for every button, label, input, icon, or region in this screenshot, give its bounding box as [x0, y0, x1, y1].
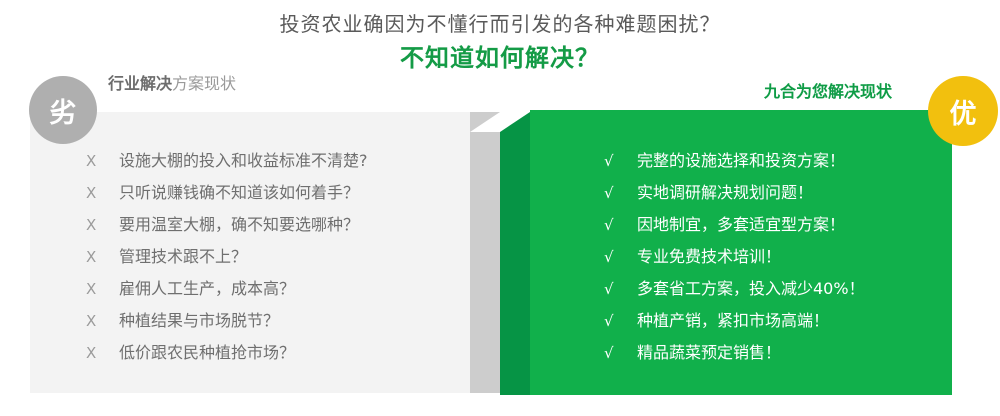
list-item: √ 因地制宜，多套适宜型方案！ [604, 211, 865, 243]
right-section-title: 九合为您解决现状 [764, 78, 892, 102]
check-icon: √ [604, 344, 637, 362]
left-section-title-strong: 行业解决 [108, 74, 172, 93]
cross-icon: X [86, 184, 119, 202]
cross-icon: X [86, 280, 119, 298]
right-panel-fold-bevel [500, 112, 530, 132]
list-item: √ 完整的设施选择和投资方案！ [604, 147, 865, 179]
check-icon: √ [604, 280, 637, 298]
list-item: √ 种植产销，紧扣市场高端！ [604, 307, 865, 339]
list-item-label: 多套省工方案，投入减少40%！ [637, 275, 865, 299]
left-panel-fold-bevel [470, 112, 500, 132]
cross-icon: X [86, 312, 119, 330]
right-panel-fold-body [500, 132, 530, 395]
headline-emphasis: 不知道如何解决？ [0, 38, 1000, 73]
list-item-label: 设施大棚的投入和收益标准不清楚? [119, 147, 368, 171]
list-item: √ 专业免费技术培训！ [604, 243, 865, 275]
check-icon: √ [604, 152, 637, 170]
comparison-infographic: 投资农业确因为不懂行而引发的各种难题困扰？ 不知道如何解决？ 劣 优 行业解决方… [0, 0, 1000, 416]
solution-list: √ 完整的设施选择和投资方案！ √ 实地调研解决规划问题！ √ 因地制宜，多套适… [604, 147, 865, 371]
list-item-label: 实地调研解决规划问题！ [637, 179, 813, 203]
left-section-title-soft: 方案现状 [172, 74, 236, 93]
list-item-label: 种植产销，紧扣市场高端！ [637, 307, 829, 331]
list-item: √ 实地调研解决规划问题！ [604, 179, 865, 211]
list-item: √ 精品蔬菜预定销售！ [604, 339, 865, 371]
list-item-label: 因地制宜，多套适宜型方案！ [637, 211, 845, 235]
list-item-label: 只听说赚钱确不知道该如何着手？ [119, 179, 359, 203]
list-item: X 种植结果与市场脱节？ [86, 307, 368, 339]
list-item-label: 专业免费技术培训！ [637, 243, 781, 267]
list-item: X 管理技术跟不上？ [86, 243, 368, 275]
list-item: X 设施大棚的投入和收益标准不清楚? [86, 147, 368, 179]
list-item-label: 低价跟农民种植抢市场？ [119, 339, 295, 363]
list-item-label: 完整的设施选择和投资方案！ [637, 147, 845, 171]
headline-question: 投资农业确因为不懂行而引发的各种难题困扰？ [0, 8, 1000, 37]
left-panel-fold-body [470, 132, 500, 393]
left-section-title: 行业解决方案现状 [108, 70, 236, 94]
list-item-label: 要用温室大棚，确不知要选哪种？ [119, 211, 359, 235]
check-icon: √ [604, 248, 637, 266]
list-item-label: 精品蔬菜预定销售！ [637, 339, 781, 363]
check-icon: √ [604, 184, 637, 202]
list-item-label: 管理技术跟不上？ [119, 243, 247, 267]
badge-superior: 优 [928, 76, 998, 146]
check-icon: √ [604, 312, 637, 330]
cross-icon: X [86, 248, 119, 266]
list-item: X 要用温室大棚，确不知要选哪种？ [86, 211, 368, 243]
list-item-label: 种植结果与市场脱节？ [119, 307, 279, 331]
list-item: √ 多套省工方案，投入减少40%！ [604, 275, 865, 307]
list-item: X 只听说赚钱确不知道该如何着手？ [86, 179, 368, 211]
check-icon: √ [604, 216, 637, 234]
cross-icon: X [86, 152, 119, 170]
problem-list: X 设施大棚的投入和收益标准不清楚? X 只听说赚钱确不知道该如何着手？ X 要… [86, 147, 368, 371]
list-item: X 雇佣人工生产，成本高？ [86, 275, 368, 307]
cross-icon: X [86, 344, 119, 362]
list-item-label: 雇佣人工生产，成本高？ [119, 275, 295, 299]
badge-inferior: 劣 [29, 76, 97, 144]
cross-icon: X [86, 216, 119, 234]
list-item: X 低价跟农民种植抢市场？ [86, 339, 368, 371]
